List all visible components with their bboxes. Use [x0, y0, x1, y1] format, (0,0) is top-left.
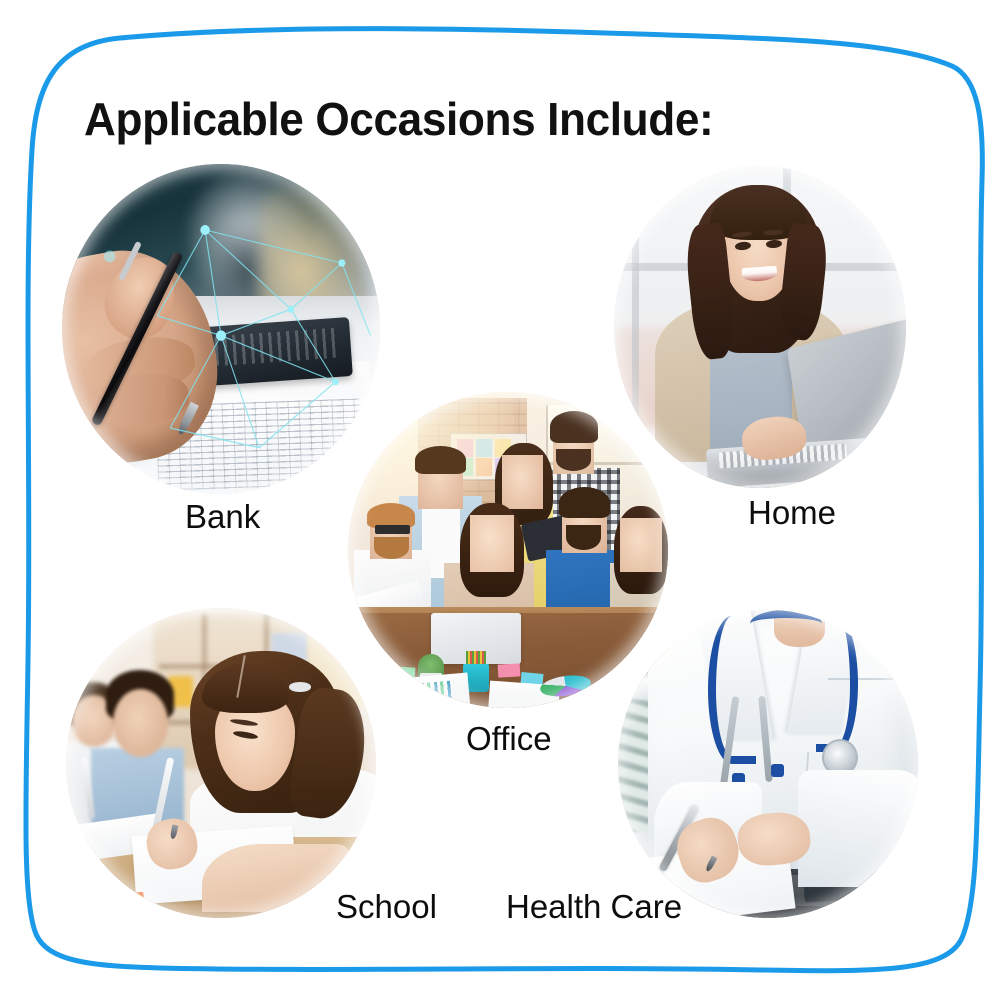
occasion-label-office: Office — [466, 720, 552, 758]
occasion-label-bank: Bank — [185, 498, 260, 536]
page-title: Applicable Occasions Include: — [84, 92, 713, 146]
occasion-tile-bank — [62, 164, 380, 494]
occasion-label-health-care: Health Care — [506, 888, 682, 926]
occasion-label-home: Home — [748, 494, 836, 532]
bank-photo-icon — [62, 164, 380, 494]
occasion-label-school: School — [336, 888, 437, 926]
network-overlay-icon — [62, 164, 380, 494]
occasion-tile-school — [66, 608, 376, 918]
occasion-tile-health-care — [618, 610, 918, 918]
school-photo-icon — [66, 608, 376, 918]
product-infographic-slide: Applicable Occasions Include: — [0, 0, 1000, 1000]
health-care-photo-icon — [618, 610, 918, 918]
